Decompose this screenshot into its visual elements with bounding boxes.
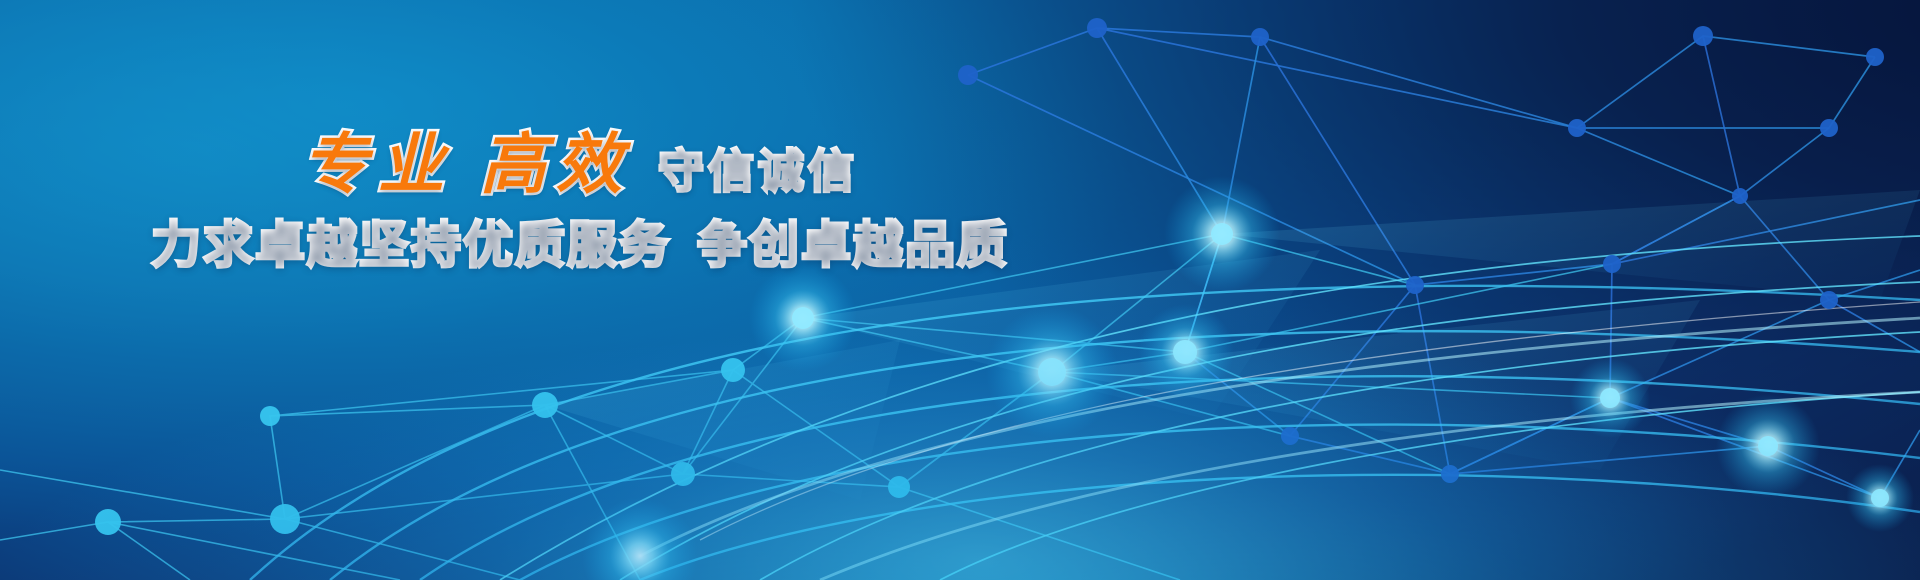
background-right-shadow: [0, 0, 1920, 580]
slogan-block: 专业 高效 守信诚信 力求卓越坚持优质服务争创卓越品质: [0, 132, 1160, 272]
slogan-outline-word: 守信诚信: [658, 148, 858, 194]
slogan-brush-word-2: 高效: [480, 132, 632, 198]
slogan-line-two: 力求卓越坚持优质服务争创卓越品质: [0, 218, 1160, 272]
slogan-line-two-left: 力求卓越坚持优质服务: [151, 216, 671, 274]
slogan-line-two-right: 争创卓越品质: [697, 216, 1009, 274]
hero-banner: 专业 高效 守信诚信 力求卓越坚持优质服务争创卓越品质: [0, 0, 1920, 580]
slogan-brush-word-1: 专业: [302, 132, 454, 198]
background-base-gradient: [0, 0, 1920, 580]
slogan-line-one: 专业 高效 守信诚信: [0, 132, 1160, 198]
network-graphic: [0, 0, 1920, 580]
background-left-highlight: [0, 0, 1920, 580]
background-lower-glow: [0, 0, 1920, 580]
